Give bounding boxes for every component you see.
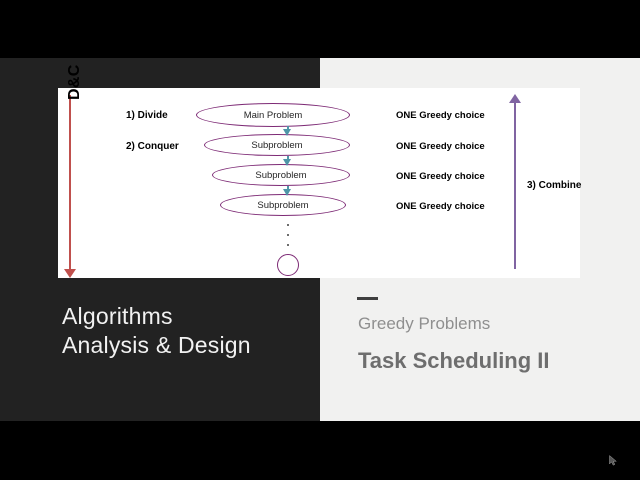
diagram-card: D&C 1) Divide 2) Conquer Main Problem Su…: [58, 88, 580, 278]
greedy-choice-label-1: ONE Greedy choice: [396, 110, 485, 121]
node-label: Subproblem: [255, 170, 306, 181]
node-label: Subproblem: [251, 140, 302, 151]
step-label-conquer: 2) Conquer: [126, 141, 179, 152]
connector-arrow-1: [283, 129, 291, 136]
course-title-line-2: Analysis & Design: [62, 331, 251, 360]
mouse-cursor-icon: [609, 455, 618, 466]
combine-label: 3) Combine: [527, 180, 581, 191]
greedy-choice-label-2: ONE Greedy choice: [396, 141, 485, 152]
ellipsis-dot-2: [287, 234, 289, 236]
node-subproblem-3: Subproblem: [220, 194, 346, 216]
greedy-choice-label-4: ONE Greedy choice: [396, 201, 485, 212]
divide-conquer-arrow-head: [64, 269, 76, 278]
divide-conquer-arrow-line: [69, 95, 71, 273]
connector-arrow-3: [283, 189, 291, 196]
combine-arrow-line: [514, 102, 516, 269]
node-subproblem-1: Subproblem: [204, 134, 350, 156]
course-title-line-1: Algorithms: [62, 302, 251, 331]
course-title: Algorithms Analysis & Design: [62, 302, 251, 361]
node-main-problem: Main Problem: [196, 103, 350, 127]
node-subproblem-2: Subproblem: [212, 164, 350, 186]
ellipsis-dot-3: [287, 244, 289, 246]
ellipsis-dot-1: [287, 224, 289, 226]
subject-label: Greedy Problems: [358, 314, 490, 334]
node-label: Subproblem: [257, 200, 308, 211]
greedy-choice-label-3: ONE Greedy choice: [396, 171, 485, 182]
slide-canvas: D&C 1) Divide 2) Conquer Main Problem Su…: [0, 58, 640, 421]
terminal-circle-node: [277, 254, 299, 276]
connector-arrow-2: [283, 159, 291, 166]
divide-conquer-label: D&C: [66, 30, 84, 100]
step-label-divide: 1) Divide: [126, 110, 168, 121]
title-rule-dash: [357, 297, 378, 300]
screenshot-root: D&C 1) Divide 2) Conquer Main Problem Su…: [0, 0, 640, 480]
combine-arrow-head: [509, 94, 521, 103]
node-label: Main Problem: [244, 110, 303, 121]
topic-title: Task Scheduling II: [358, 348, 550, 374]
